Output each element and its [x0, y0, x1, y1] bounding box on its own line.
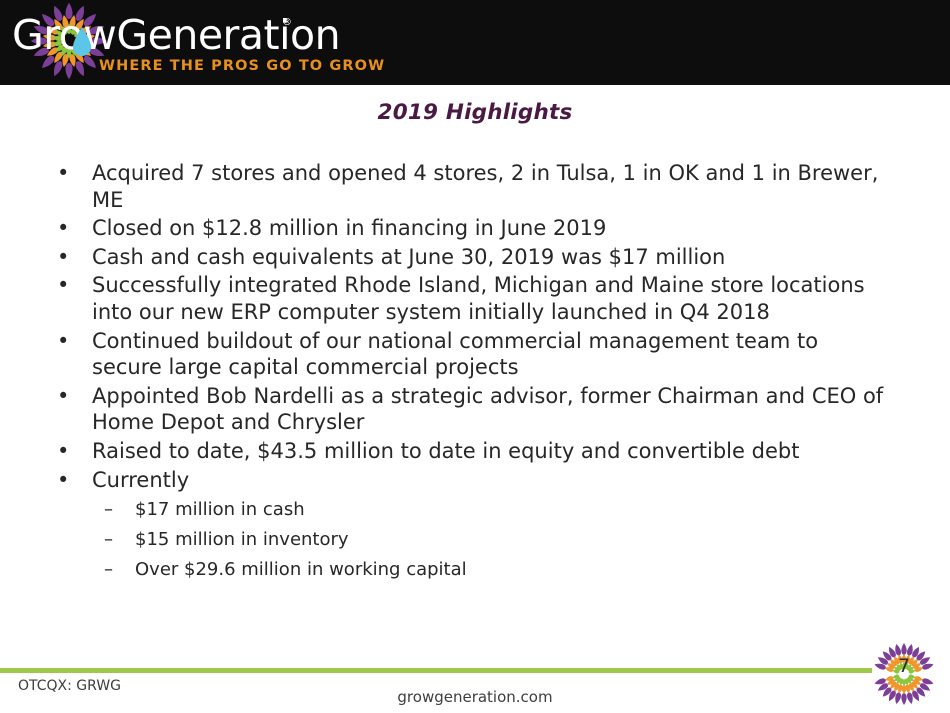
bullet-text: Currently	[92, 468, 189, 492]
bullet-text: Acquired 7 stores and opened 4 stores, 2…	[92, 161, 878, 212]
bullet-text: Raised to date, $43.5 million to date in…	[92, 439, 799, 463]
bullet-marker-icon: –	[104, 495, 124, 525]
logo-wordmark-generation: Generation	[116, 11, 340, 59]
bullet-text: Continued buildout of our national comme…	[92, 329, 818, 380]
bullet-text: Closed on $12.8 million in financing in …	[92, 216, 606, 240]
bullet-text: Over $29.6 million in working capital	[135, 559, 467, 580]
bullet-marker-icon: •	[57, 244, 77, 271]
slide-canvas: GrowGeneration ® WHERE THE PROS GO TO GR…	[0, 0, 950, 713]
page-title: 2019 Highlights	[0, 100, 950, 125]
bullet-item: •Raised to date, $43.5 million to date i…	[0, 438, 950, 465]
bullet-text: Successfully integrated Rhode Island, Mi…	[92, 273, 865, 324]
bullet-item: •Cash and cash equivalents at June 30, 2…	[0, 244, 950, 271]
bullet-item: •Currently	[0, 467, 950, 494]
header-band: GrowGeneration ® WHERE THE PROS GO TO GR…	[0, 0, 950, 85]
page-number: 7	[868, 655, 940, 677]
bullet-marker-icon: •	[57, 383, 77, 410]
logo-tagline: WHERE THE PROS GO TO GROW	[99, 58, 385, 74]
logo-wordmark-grow: Grow	[12, 11, 116, 59]
bullet-marker-icon: –	[104, 525, 124, 555]
bullet-list: •Acquired 7 stores and opened 4 stores, …	[0, 160, 950, 585]
bullet-text: $15 million in inventory	[135, 529, 349, 550]
logo-wordmark: GrowGeneration	[12, 11, 302, 61]
bullet-item: –$15 million in inventory	[0, 525, 950, 555]
bullet-item: •Successfully integrated Rhode Island, M…	[0, 272, 950, 325]
bullet-marker-icon: •	[57, 438, 77, 465]
brand-logo[interactable]: GrowGeneration ® WHERE THE PROS GO TO GR…	[8, 0, 308, 85]
bullet-marker-icon: •	[57, 272, 77, 299]
bullet-item: •Acquired 7 stores and opened 4 stores, …	[0, 160, 950, 213]
footer-divider	[0, 668, 872, 673]
water-droplet-icon	[72, 27, 92, 57]
bullet-item: •Continued buildout of our national comm…	[0, 328, 950, 381]
bullet-marker-icon: •	[57, 215, 77, 242]
bullet-marker-icon: •	[57, 467, 77, 494]
bullet-marker-icon: •	[57, 160, 77, 187]
registered-trademark-icon: ®	[282, 17, 292, 28]
bullet-text: Cash and cash equivalents at June 30, 20…	[92, 245, 725, 269]
bullet-item: •Closed on $12.8 million in financing in…	[0, 215, 950, 242]
bullet-marker-icon: –	[104, 555, 124, 585]
bullet-item: –Over $29.6 million in working capital	[0, 555, 950, 585]
bullet-text: Appointed Bob Nardelli as a strategic ad…	[92, 384, 883, 435]
footer-website: growgeneration.com	[0, 688, 950, 706]
bullet-item: –$17 million in cash	[0, 495, 950, 525]
bullet-marker-icon: •	[57, 328, 77, 355]
bullet-item: •Appointed Bob Nardelli as a strategic a…	[0, 383, 950, 436]
bullet-text: $17 million in cash	[135, 499, 305, 520]
